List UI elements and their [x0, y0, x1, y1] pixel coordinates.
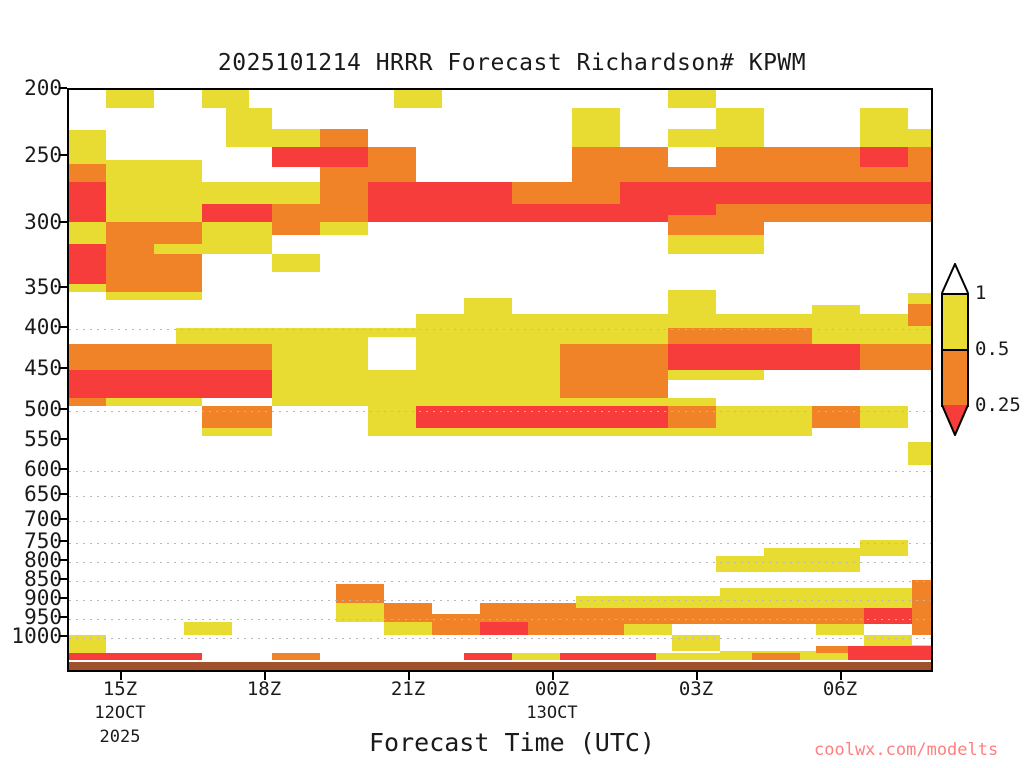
heatmap-cell: [620, 344, 668, 370]
heatmap-cell: [202, 235, 248, 254]
heatmap-cell: [202, 90, 249, 108]
heatmap-cell: [416, 406, 464, 428]
heatmap-cell: [272, 129, 320, 147]
heatmap-cell: [416, 204, 464, 222]
y-axis-tick-mark: [59, 597, 67, 599]
y-axis-tick-mark: [59, 578, 67, 580]
heatmap-cell: [812, 147, 860, 167]
heatmap-cell: [908, 204, 933, 222]
heatmap-cell: [812, 167, 860, 182]
heatmap-cell: [620, 182, 668, 204]
heatmap-cell: [432, 614, 480, 635]
y-axis-tick-label: 500: [24, 399, 62, 420]
page-title: 2025101214 HRRR Forecast Richardson# KPW…: [0, 50, 1024, 76]
heatmap-cell: [464, 428, 512, 436]
heatmap-cell: [368, 182, 416, 204]
heatmap-cell: [272, 182, 320, 204]
heatmap-cell: [202, 182, 248, 204]
heatmap-cell: [154, 292, 202, 300]
heatmap-cell: [576, 596, 624, 608]
heatmap-cell: [106, 222, 154, 244]
heatmap-cell: [384, 622, 432, 635]
heatmap-cell: [154, 370, 202, 398]
heatmap-cell: [106, 272, 154, 292]
heatmap-cell: [764, 344, 812, 370]
heatmap-cell: [464, 406, 512, 428]
heatmap-cell: [464, 182, 512, 204]
heatmap-cell: [860, 204, 908, 222]
y-axis-tick-mark: [59, 326, 67, 328]
heatmap-cell: [620, 204, 668, 222]
heatmap-cell: [560, 370, 620, 398]
heatmap-cell: [68, 635, 106, 653]
heatmap-cell: [620, 428, 668, 436]
heatmap-cell: [764, 167, 812, 182]
heatmap-cell: [812, 344, 860, 370]
heatmap-cell: [624, 596, 672, 608]
heatmap-cell: [416, 428, 464, 436]
heatmap-cell: [716, 108, 764, 129]
heatmap-cell: [572, 167, 620, 182]
heatmap-cell: [716, 406, 764, 428]
colorbar-tick-label: 0.5: [975, 340, 1009, 359]
colorbar-tick-label: 1: [975, 284, 986, 303]
heatmap-cell: [368, 147, 416, 167]
heatmap-cell: [68, 398, 106, 406]
heatmap-cell: [68, 254, 106, 284]
heatmap-cell: [908, 442, 933, 465]
heatmap-cell: [720, 588, 768, 608]
y-axis-tick-label: 700: [24, 509, 62, 530]
heatmap-cell: [560, 204, 620, 222]
heatmap-cell: [368, 428, 416, 436]
heatmap-cell: [248, 235, 272, 254]
heatmap-cell: [572, 129, 620, 147]
heatmap-cell: [248, 370, 272, 398]
heatmap-cell: [860, 147, 908, 167]
heatmap-cell: [864, 588, 912, 608]
x-axis-date-label: 12OCT: [50, 703, 190, 723]
heatmap-cell: [68, 182, 106, 204]
heatmap-cell: [416, 398, 464, 406]
y-axis-tick-labels: 2002503003504004505005506006507007508008…: [0, 0, 62, 768]
heatmap-cell: [860, 328, 908, 344]
heatmap-cell: [624, 608, 672, 624]
y-axis-tick-label: 1000: [11, 626, 62, 647]
heatmap-cell: [512, 406, 560, 428]
heatmap-cell: [908, 129, 933, 147]
y-axis-tick-label: 400: [24, 317, 62, 338]
heatmap-cell: [860, 344, 908, 370]
heatmap-cell: [908, 344, 933, 370]
heatmap-cell: [320, 204, 368, 222]
heatmap-cell: [464, 204, 512, 222]
heatmap-cell: [226, 108, 272, 129]
heatmap-cell: [416, 337, 464, 370]
heatmap-cell: [248, 428, 272, 436]
heatmap-cell: [908, 304, 933, 326]
colorbar-segment: [941, 293, 969, 349]
heatmap-cell: [764, 314, 812, 328]
heatmap-cell: [716, 215, 764, 235]
heatmap-cell: [272, 370, 320, 398]
heatmap-cell: [560, 406, 620, 428]
y-axis-tick-mark: [59, 518, 67, 520]
y-axis-tick-mark: [59, 154, 67, 156]
heatmap-cell: [672, 608, 720, 624]
heatmap-cell: [512, 398, 560, 406]
heatmap-cell: [368, 337, 416, 370]
heatmap-cell: [154, 222, 202, 244]
heatmap-cell: [860, 314, 908, 328]
heatmap-cell: [320, 129, 368, 147]
heatmap-cell: [716, 129, 764, 147]
heatmap-cell: [620, 370, 668, 398]
heatmap-cell: [816, 588, 864, 608]
heatmap-cell: [620, 328, 668, 344]
y-axis-tick-mark: [59, 221, 67, 223]
heatmap-cell: [672, 596, 720, 608]
heatmap-cell: [816, 608, 864, 624]
y-axis-tick-mark: [59, 635, 67, 637]
heatmap-cell: [716, 328, 764, 344]
y-axis-tick-mark: [59, 540, 67, 542]
colorbar-arrow-up-outline: [941, 263, 969, 294]
terrain-separator: [68, 660, 933, 662]
heatmap-cell: [68, 370, 106, 398]
heatmap-cell: [202, 370, 248, 398]
y-axis-tick-label: 250: [24, 145, 62, 166]
heatmap-cell: [860, 108, 908, 129]
heatmap-cell: [106, 160, 154, 182]
y-axis-tick-mark: [59, 408, 67, 410]
heatmap-cell: [320, 167, 368, 182]
heatmap-cell: [908, 147, 933, 167]
heatmap-cell: [764, 428, 812, 436]
heatmap-cell: [384, 603, 432, 622]
heatmap-cell: [154, 182, 202, 204]
heatmap-cell: [864, 608, 912, 624]
heatmap-cell: [272, 147, 320, 167]
heatmap-cell: [560, 428, 620, 436]
x-axis-tick-label: 15Z: [60, 678, 180, 700]
heatmap-cell: [68, 344, 106, 370]
heatmap-cell: [560, 398, 620, 406]
heatmap-cell: [768, 588, 816, 608]
heatmap-cell: [716, 370, 764, 380]
heatmap-cell: [572, 147, 620, 167]
y-axis-tick-mark: [59, 286, 67, 288]
heatmap-cell: [764, 182, 812, 204]
heatmap-cell: [668, 344, 716, 370]
x-axis-tick-label: 21Z: [348, 678, 468, 700]
heatmap-cell: [668, 428, 716, 436]
heatmap-cell: [716, 147, 764, 167]
heatmap-cell: [368, 204, 416, 222]
heatmap-cell: [106, 244, 154, 254]
x-axis-tick-label: 18Z: [204, 678, 324, 700]
heatmap-cell: [668, 182, 716, 204]
heatmap-cell: [860, 129, 908, 147]
heatmap-cell: [226, 129, 272, 147]
heatmap-cell: [716, 556, 764, 572]
heatmap-cell: [368, 406, 416, 428]
richardson-number-heatmap-chart: 2025101214 HRRR Forecast Richardson# KPW…: [0, 0, 1024, 768]
heatmap-cell: [912, 580, 933, 635]
x-axis-date-label: 13OCT: [482, 703, 622, 723]
colorbar-tick-label: 0.25: [975, 396, 1021, 415]
heatmap-cell: [668, 215, 716, 235]
heatmap-cell: [320, 147, 368, 167]
heatmap-cell: [320, 182, 368, 204]
heatmap-cell: [202, 344, 248, 370]
heatmap-cell: [764, 147, 812, 167]
heatmap-cell: [860, 540, 908, 556]
heatmap-cell: [620, 314, 668, 328]
heatmap-cell: [512, 370, 560, 398]
y-axis-tick-label: 450: [24, 358, 62, 379]
heatmap-cell: [154, 272, 202, 292]
heatmap-cell: [464, 298, 512, 314]
y-axis-tick-mark: [59, 87, 67, 89]
heatmap-cell: [106, 182, 154, 204]
heatmap-cell: [620, 147, 668, 167]
heatmap-cell: [908, 326, 933, 334]
heatmap-cell: [68, 204, 106, 222]
heatmap-cell: [106, 370, 154, 398]
x-axis-tick-label: 06Z: [780, 678, 900, 700]
heatmap-cell: [248, 328, 272, 344]
heatmap-cell: [272, 254, 320, 272]
heatmap-cell: [368, 398, 416, 406]
heatmap-cell: [764, 548, 812, 572]
heatmap-cell: [272, 204, 320, 222]
heatmap-cell: [320, 222, 368, 235]
heatmap-cell: [672, 635, 720, 651]
heatmap-cell: [68, 164, 106, 182]
heatmap-cell: [560, 344, 620, 370]
heatmap-cell: [576, 608, 624, 635]
heatmap-cell: [154, 160, 202, 182]
heatmap-cell: [812, 305, 860, 328]
heatmap-cell: [272, 222, 320, 235]
heatmap-cell: [184, 622, 232, 635]
x-axis-tick-label: 03Z: [636, 678, 756, 700]
y-axis-tick-mark: [59, 438, 67, 440]
heatmap-cell: [416, 182, 464, 204]
heatmap-cell: [668, 290, 716, 314]
heatmap-cell: [668, 129, 716, 147]
heatmap-cell: [368, 167, 416, 182]
heatmap-cell: [716, 182, 764, 204]
heatmap-cell: [106, 292, 154, 300]
heatmap-cell: [560, 328, 620, 344]
heatmap-cell: [816, 624, 864, 635]
heatmap-cell: [620, 167, 668, 182]
heatmap-cell: [394, 90, 442, 108]
colorbar-divider: [941, 349, 969, 351]
heatmap-cell: [620, 398, 668, 406]
heatmap-cell: [528, 603, 576, 635]
colorbar-divider: [941, 293, 969, 295]
heatmap-cell: [572, 108, 620, 129]
heatmap-cell: [464, 314, 512, 328]
heatmap-cell: [202, 406, 248, 428]
x-axis-tick-label: 00Z: [492, 678, 612, 700]
heatmap-cell: [560, 314, 620, 328]
colorbar-arrow-down-outline: [941, 405, 969, 436]
y-axis-tick-label: 300: [24, 212, 62, 233]
heatmap-cell: [668, 90, 716, 108]
heatmap-cell: [248, 406, 272, 428]
heatmap-cell: [480, 603, 528, 622]
y-axis-tick-label: 550: [24, 429, 62, 450]
heatmap-cell: [68, 138, 106, 164]
heatmap-cell: [202, 328, 248, 344]
heatmap-cell: [512, 182, 560, 204]
heatmap-cell: [716, 167, 764, 182]
heatmap-cell: [624, 624, 672, 635]
heatmap-cell: [860, 182, 933, 204]
heatmap-cell: [176, 328, 202, 344]
heatmap-cell: [272, 337, 320, 370]
y-axis-tick-label: 650: [24, 484, 62, 505]
y-axis-tick-label: 600: [24, 459, 62, 480]
heatmap-cell: [464, 370, 512, 398]
heatmap-cell: [560, 182, 620, 204]
heatmap-cell: [106, 344, 154, 370]
heatmap-cell: [154, 204, 202, 222]
heatmap-cell: [512, 337, 560, 370]
heatmap-cell: [416, 314, 464, 328]
heatmap-cell: [668, 167, 716, 182]
heatmap-cell: [764, 204, 812, 222]
heatmap-cell: [668, 398, 716, 406]
y-axis-tick-mark: [59, 493, 67, 495]
heatmap-cell: [336, 603, 384, 622]
heatmap-cell: [668, 328, 716, 344]
heatmap-cell: [464, 398, 512, 406]
heatmap-cell: [812, 182, 860, 204]
heatmap-cell: [106, 398, 154, 406]
heatmap-cell: [106, 90, 154, 108]
heatmap-cell: [272, 398, 320, 406]
heatmap-cell: [764, 328, 812, 344]
heatmap-cell: [812, 328, 860, 344]
heatmap-cell: [106, 204, 154, 222]
heatmap-cell: [668, 314, 716, 328]
colorbar: 10.50.25: [941, 293, 969, 461]
heatmap-cell: [320, 398, 368, 406]
heatmap-cell: [812, 204, 860, 222]
heatmap-cell-layer: [69, 90, 931, 670]
heatmap-cell: [416, 370, 464, 398]
y-axis-tick-mark: [59, 559, 67, 561]
heatmap-cell: [336, 584, 384, 603]
heatmap-cell: [716, 314, 764, 328]
heatmap-cell: [480, 622, 528, 635]
heatmap-cell: [812, 548, 860, 572]
heatmap-cell: [464, 337, 512, 370]
watermark-link[interactable]: coolwx.com/modelts: [814, 740, 998, 760]
y-axis-tick-label: 200: [24, 78, 62, 99]
heatmap-cell: [620, 406, 668, 428]
heatmap-cell: [202, 204, 248, 222]
heatmap-cell: [720, 608, 768, 624]
heatmap-cell: [248, 182, 272, 204]
heatmap-cell: [764, 406, 812, 428]
heatmap-cell: [154, 398, 202, 406]
heatmap-cell: [154, 244, 202, 254]
y-axis-tick-mark: [59, 616, 67, 618]
heatmap-cell: [716, 235, 764, 254]
heatmap-cell: [68, 284, 106, 292]
heatmap-cell: [668, 406, 716, 428]
heatmap-cell: [248, 204, 272, 222]
heatmap-cell: [908, 293, 933, 304]
y-axis-tick-mark: [59, 367, 67, 369]
heatmap-cell: [716, 428, 764, 436]
y-axis-tick-label: 350: [24, 277, 62, 298]
heatmap-cell: [320, 370, 368, 398]
heatmap-cell: [668, 370, 716, 380]
heatmap-cell: [368, 370, 416, 398]
heatmap-cell: [68, 244, 106, 254]
y-axis-tick-mark: [59, 468, 67, 470]
heatmap-cell: [860, 406, 908, 428]
heatmap-cell: [512, 314, 560, 328]
heatmap-cell: [668, 235, 716, 254]
heatmap-cell: [68, 222, 106, 244]
colorbar-segment: [941, 349, 969, 405]
heatmap-cell: [512, 204, 560, 222]
heatmap-cell: [248, 344, 272, 370]
heatmap-cell: [860, 167, 933, 182]
heatmap-cell: [154, 344, 202, 370]
heatmap-cell: [716, 344, 764, 370]
heatmap-cell: [768, 608, 816, 624]
plot-area: [67, 88, 933, 672]
heatmap-cell: [320, 337, 368, 370]
heatmap-cell: [812, 406, 860, 428]
heatmap-cell: [512, 428, 560, 436]
surface-terrain-band: [68, 662, 933, 672]
heatmap-cell: [202, 428, 248, 436]
